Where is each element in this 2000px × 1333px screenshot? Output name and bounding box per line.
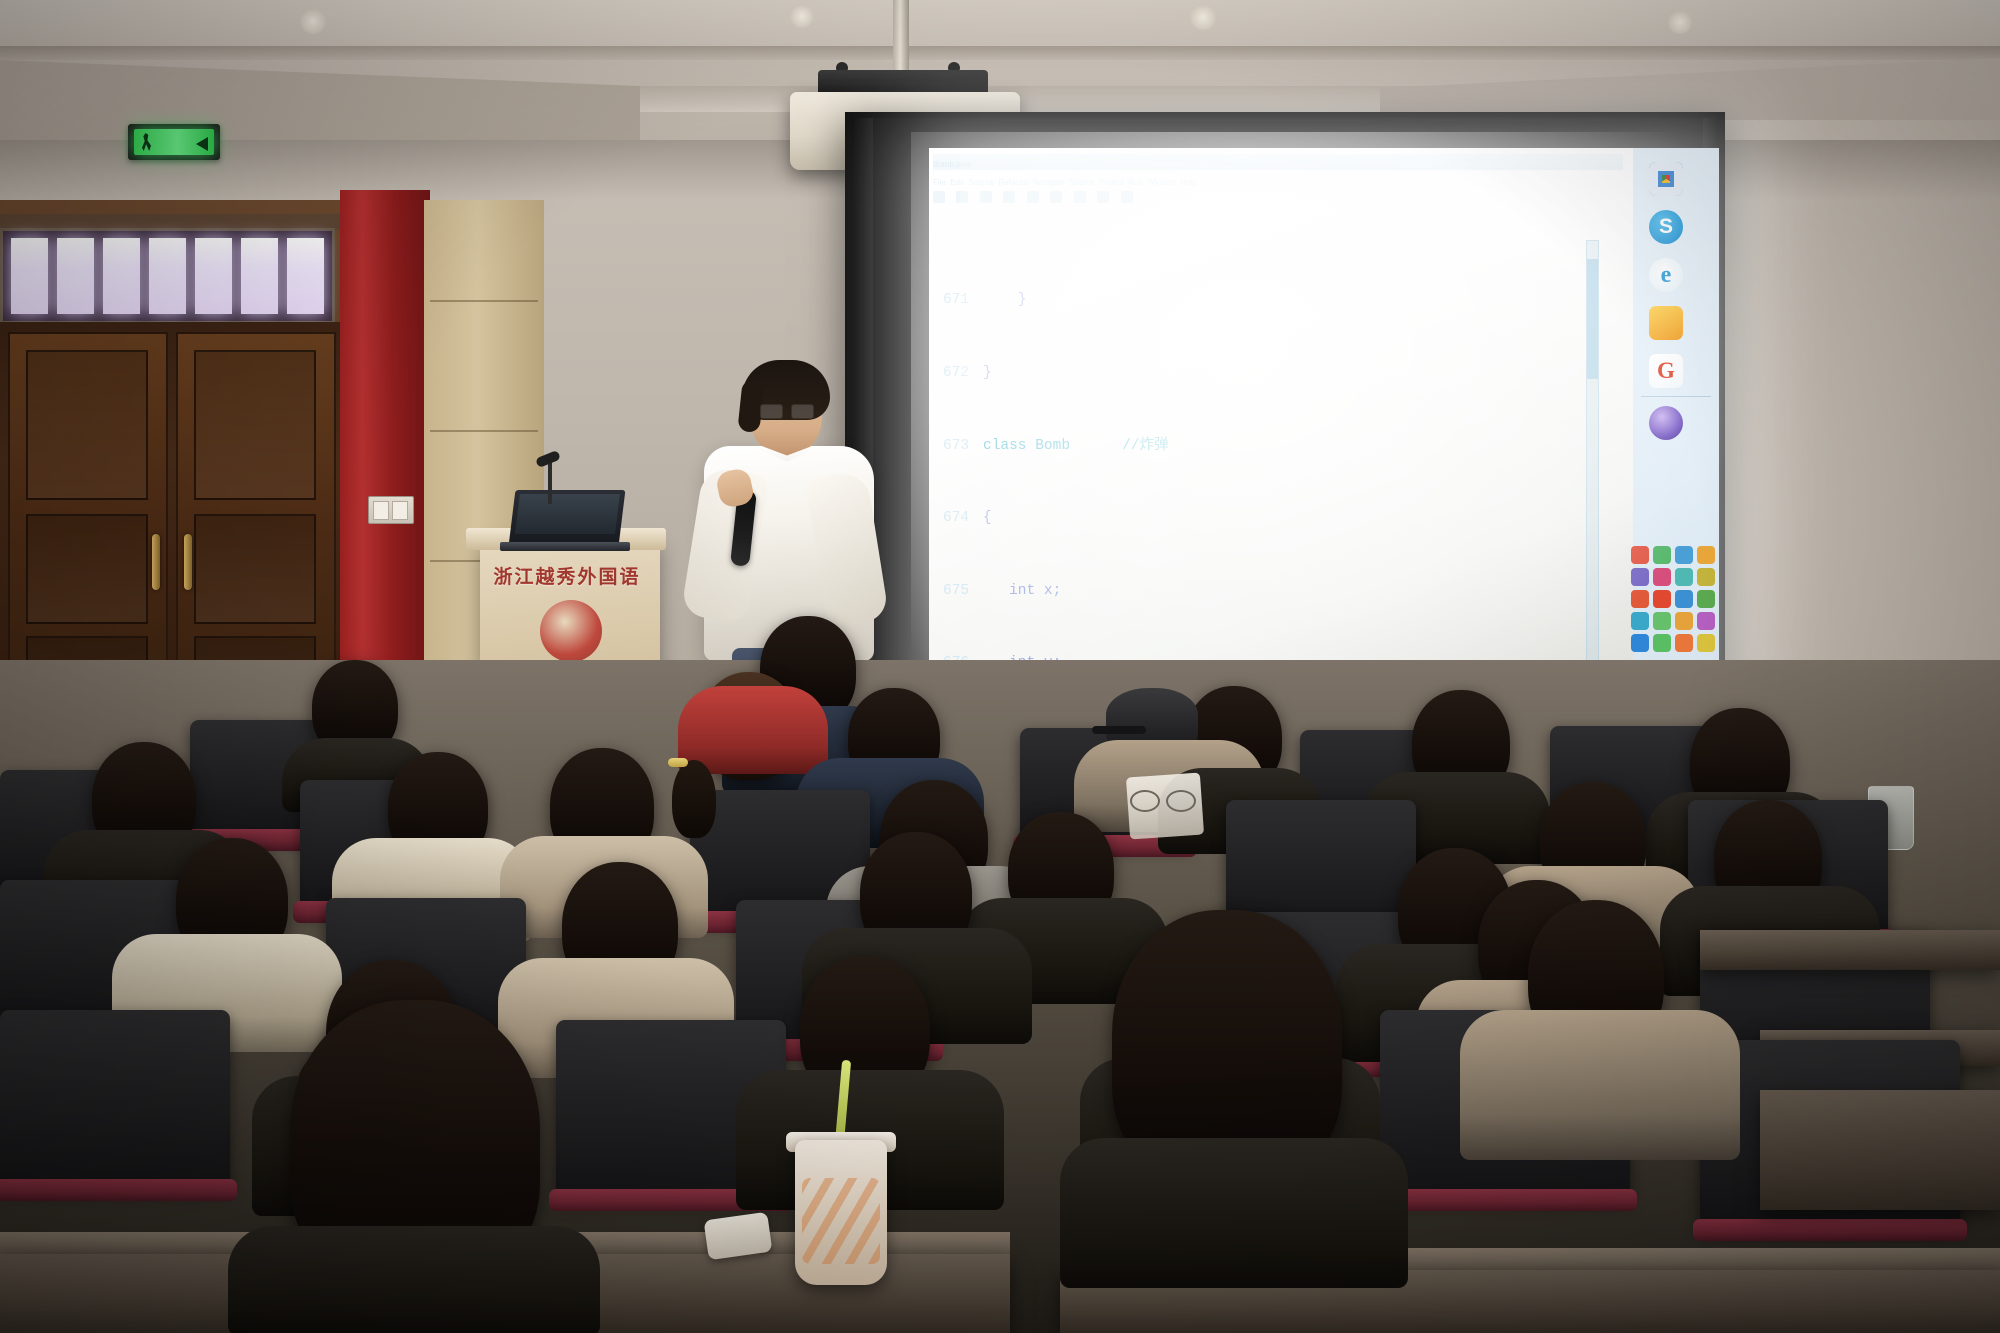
line-number: 672 <box>943 361 983 385</box>
forward-icon[interactable] <box>1121 191 1133 203</box>
code-line: 674{ <box>943 506 1583 530</box>
menu-edit[interactable]: Edit <box>950 178 964 187</box>
grid-icon[interactable] <box>1697 546 1715 564</box>
line-number: 671 <box>943 288 983 312</box>
grid-icon[interactable] <box>1675 546 1693 564</box>
window-pane <box>287 238 324 314</box>
eyeglasses-icon <box>760 404 812 417</box>
grid-icon[interactable] <box>1653 634 1671 652</box>
editor-menu-bar[interactable]: File Edit Source Refactor Navigate Searc… <box>933 172 1623 186</box>
code-editor-window[interactable]: Bomb.java File Edit Source Refactor Navi… <box>929 148 1629 688</box>
desk-side <box>1760 1090 2000 1210</box>
line-number: 673 <box>943 434 983 458</box>
projected-image: Bomb.java File Edit Source Refactor Navi… <box>929 148 1719 718</box>
grid-icon[interactable] <box>1675 568 1693 586</box>
window-pane <box>11 238 48 314</box>
grid-icon[interactable] <box>1653 612 1671 630</box>
menu-window[interactable]: Window <box>1147 178 1175 187</box>
search-icon[interactable] <box>1050 191 1062 203</box>
grid-icon[interactable] <box>1697 634 1715 652</box>
grid-icon[interactable] <box>1653 568 1671 586</box>
ceiling-light <box>300 8 326 34</box>
lectern-sign: 浙江越秀外国语 <box>492 558 642 592</box>
ceiling-light <box>1190 4 1216 30</box>
line-text: } <box>983 292 1027 308</box>
door-panel <box>26 350 148 500</box>
desktop-sidebar[interactable]: S e G <box>1633 148 1719 718</box>
debug-icon[interactable] <box>1003 191 1015 203</box>
line-text: class Bomb //炸弹 <box>983 438 1169 454</box>
menu-project[interactable]: Project <box>1099 178 1124 187</box>
menu-help[interactable]: Help <box>1180 178 1196 187</box>
lecture-hall-photo: EPSON Bomb.java File Edit Source Refacto… <box>0 0 2000 1333</box>
menu-run[interactable]: Run <box>1128 178 1143 187</box>
grid-icon[interactable] <box>1653 590 1671 608</box>
door-handle[interactable] <box>184 534 192 590</box>
ceiling-soffit <box>0 46 2000 60</box>
sidebar-divider <box>1641 396 1711 397</box>
grid-icon[interactable] <box>1631 546 1649 564</box>
editor-scrollbar[interactable] <box>1586 240 1599 672</box>
door-panel <box>26 514 148 624</box>
arrow-icon <box>196 137 208 151</box>
ponytail <box>672 760 716 838</box>
purple-orb-icon[interactable] <box>1649 406 1683 440</box>
laptop-base <box>500 542 630 551</box>
grid-icon[interactable] <box>1697 612 1715 630</box>
grid-icon[interactable] <box>1631 568 1649 586</box>
editor-tab-row[interactable] <box>933 216 1623 230</box>
audience-shoulders <box>1060 1138 1408 1288</box>
save-icon[interactable] <box>956 191 968 203</box>
ceiling-light <box>1668 10 1692 34</box>
door-handle[interactable] <box>152 534 160 590</box>
grid-icon[interactable] <box>1631 590 1649 608</box>
editor-title-bar[interactable]: Bomb.java <box>933 154 1623 170</box>
eyeglasses-icon <box>1130 790 1192 808</box>
desk-row <box>1700 930 2000 970</box>
internet-explorer-icon[interactable]: e <box>1649 258 1683 292</box>
hair-tie <box>668 758 688 767</box>
app-icon-grid[interactable] <box>1627 542 1715 656</box>
audience-shoulders <box>1460 1010 1740 1160</box>
grid-icon[interactable] <box>1675 634 1693 652</box>
laptop[interactable] <box>509 490 626 546</box>
line-text: int x; <box>983 583 1061 599</box>
microphone-stand <box>548 462 552 504</box>
laptop-screen <box>515 494 620 534</box>
exit-sign <box>128 124 220 160</box>
audience-shoulders <box>228 1226 600 1333</box>
grid-icon[interactable] <box>1697 568 1715 586</box>
line-text: { <box>983 510 992 526</box>
grid-icon[interactable] <box>1653 546 1671 564</box>
window-pane <box>195 238 232 314</box>
cap-brim <box>1092 726 1146 734</box>
grid-icon[interactable] <box>1631 634 1649 652</box>
run-icon[interactable] <box>1027 191 1039 203</box>
seat[interactable] <box>0 1010 230 1190</box>
window-pane <box>103 238 140 314</box>
line-number: 675 <box>943 579 983 603</box>
door-panel <box>194 514 316 624</box>
menu-refactor[interactable]: Refactor <box>998 178 1028 187</box>
window-pane <box>149 238 186 314</box>
window-pane <box>241 238 278 314</box>
projection-screen: Bomb.java File Edit Source Refactor Navi… <box>845 112 1725 737</box>
menu-file[interactable]: File <box>933 178 946 187</box>
lectern-emblem <box>540 600 602 662</box>
pillar-seam <box>430 300 538 302</box>
menu-source[interactable]: Source <box>969 178 994 187</box>
code-line: 675 int x; <box>943 579 1583 603</box>
scrollbar-thumb[interactable] <box>1587 259 1598 379</box>
print-icon[interactable] <box>980 191 992 203</box>
new-file-icon[interactable] <box>933 191 945 203</box>
door-panel <box>194 350 316 500</box>
grid-icon[interactable] <box>1675 590 1693 608</box>
source-code[interactable]: 671 } 672} 673class Bomb //炸弹 674{ 675 i… <box>943 240 1583 688</box>
light-switch[interactable] <box>373 501 389 520</box>
code-line: 671 } <box>943 288 1583 312</box>
back-icon[interactable] <box>1097 191 1109 203</box>
line-number: 674 <box>943 506 983 530</box>
menu-search[interactable]: Search <box>1069 178 1094 187</box>
skype-icon[interactable]: S <box>1649 210 1683 244</box>
yellow-app-icon[interactable] <box>1649 306 1683 340</box>
line-text: } <box>983 365 992 381</box>
wall-switch-box[interactable] <box>368 496 414 524</box>
ceiling-light <box>790 4 814 28</box>
window-light-panel <box>0 228 335 324</box>
grid-icon[interactable] <box>1631 612 1649 630</box>
next-annotation-icon[interactable] <box>1074 191 1086 203</box>
grid-icon[interactable] <box>1697 590 1715 608</box>
editor-tab-label: Bomb.java <box>933 160 971 169</box>
light-switch[interactable] <box>392 501 408 520</box>
editor-toolbar[interactable] <box>933 188 1623 214</box>
code-line: 672} <box>943 361 1583 385</box>
baseball-cap <box>1106 688 1198 746</box>
grid-icon[interactable] <box>1675 612 1693 630</box>
projector-mount-pole <box>893 0 909 78</box>
gom-player-icon[interactable]: G <box>1649 354 1683 388</box>
chrome-icon[interactable] <box>1649 162 1683 196</box>
pillar-seam <box>430 430 538 432</box>
code-line: 673class Bomb //炸弹 <box>943 434 1583 458</box>
cup-graphic <box>802 1178 880 1264</box>
window-pane <box>57 238 94 314</box>
menu-navigate[interactable]: Navigate <box>1033 178 1065 187</box>
